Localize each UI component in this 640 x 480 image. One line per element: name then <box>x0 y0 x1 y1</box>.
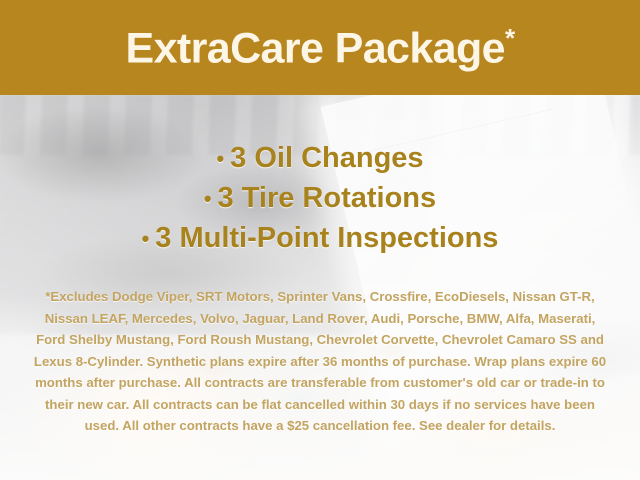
bullet-dot-icon: • <box>216 146 224 171</box>
bullet-dot-icon: • <box>142 226 150 251</box>
benefit-item-oil-changes: •3 Oil Changes <box>0 138 640 178</box>
benefit-label: 3 Multi-Point Inspections <box>155 222 498 254</box>
disclaimer-text: *Excludes Dodge Viper, SRT Motors, Sprin… <box>30 286 610 437</box>
page-title: ExtraCare Package* <box>126 25 515 70</box>
extracare-promo-card: ExtraCare Package* •3 Oil Changes •3 Tir… <box>0 0 640 480</box>
benefit-label: 3 Oil Changes <box>230 142 423 174</box>
benefit-item-tire-rotations: •3 Tire Rotations <box>0 178 640 218</box>
benefit-item-multi-point-inspections: •3 Multi-Point Inspections <box>0 218 640 258</box>
benefit-label: 3 Tire Rotations <box>218 182 437 214</box>
page-title-text: ExtraCare Package <box>126 24 505 72</box>
header-banner: ExtraCare Package* <box>0 0 640 95</box>
bullet-dot-icon: • <box>204 186 212 211</box>
title-asterisk-marker: * <box>505 23 515 53</box>
benefits-list: •3 Oil Changes •3 Tire Rotations •3 Mult… <box>0 138 640 258</box>
